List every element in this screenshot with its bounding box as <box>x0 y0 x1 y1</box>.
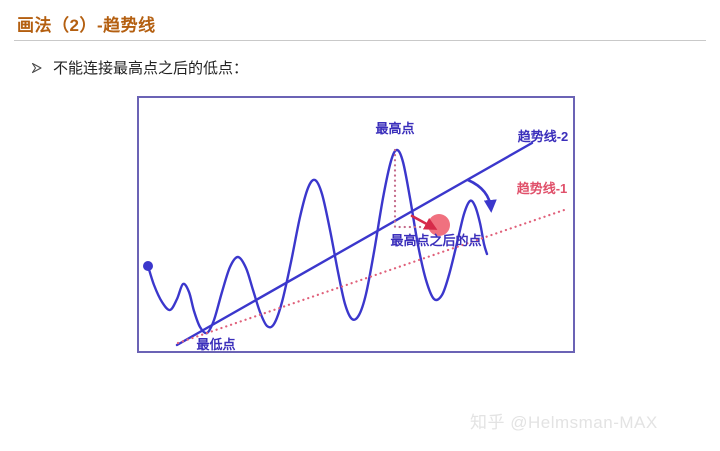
page-title: 画法（2）-趋势线 <box>17 11 156 36</box>
annotation-lowest-point: 最低点 <box>196 337 235 351</box>
annotation-trendline-2: 趋势线-2 <box>518 129 569 144</box>
arrow-bullet-icon <box>30 61 44 75</box>
slide-canvas: 画法（2）-趋势线 不能连接最高点之后的低点： 最高点趋势线-2趋势线-1最高点… <box>0 0 720 451</box>
chart-canvas: 最高点趋势线-2趋势线-1最高点之后的点最低点 <box>139 98 573 351</box>
series-trendline-1-line <box>178 209 567 343</box>
annotation-highest-point: 最高点 <box>375 121 414 136</box>
chart-label-layer: 最高点趋势线-2趋势线-1最高点之后的点最低点 <box>196 121 568 351</box>
title-divider <box>14 40 706 41</box>
marker-start-dot <box>143 261 153 271</box>
watermark: 知乎 @Helmsman-MAX <box>470 408 658 433</box>
trendline-chart: 最高点趋势线-2趋势线-1最高点之后的点最低点 <box>137 96 575 353</box>
bullet-item: 不能连接最高点之后的低点： <box>30 57 248 78</box>
bullet-label: 不能连接最高点之后的低点： <box>53 57 248 78</box>
annotation-trendline-1: 趋势线-1 <box>517 181 568 196</box>
annotation-point-after-highest: 最高点之后的点 <box>390 233 481 248</box>
arrow-down-arrow <box>468 180 491 209</box>
chart-series-layer <box>148 143 567 345</box>
